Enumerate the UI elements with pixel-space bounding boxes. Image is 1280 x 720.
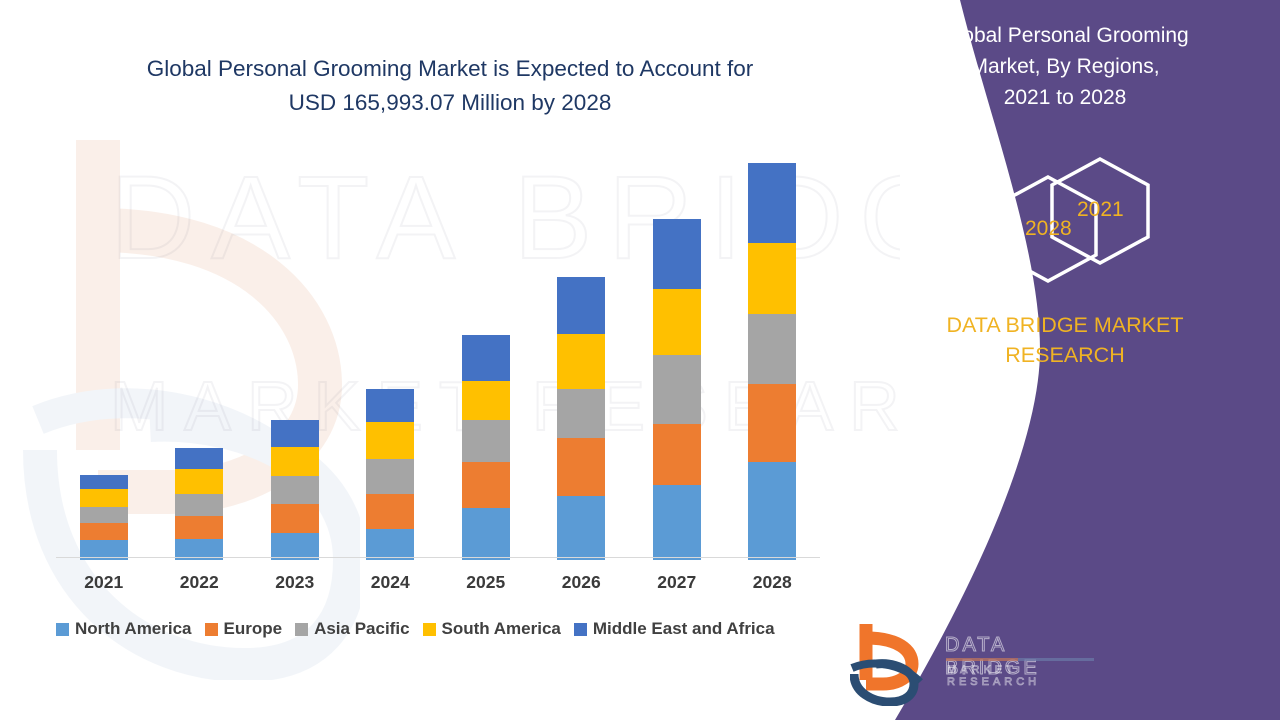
bar-group[interactable] [271,420,319,560]
bar-segment[interactable] [557,438,605,496]
bar-segment[interactable] [366,459,414,494]
bar-segment[interactable] [653,289,701,355]
bar-segment[interactable] [366,529,414,560]
footer-logo-divider [946,658,1096,662]
bar-group[interactable] [366,389,414,560]
bar-segment[interactable] [175,469,223,494]
bar-segment[interactable] [175,494,223,516]
chart-title-line-2: USD 165,993.07 Million by 2028 [60,86,840,120]
bar-segment[interactable] [748,163,796,243]
x-axis-tick-labels: 20212022202320242025202620272028 [56,572,820,602]
legend-swatch-icon [295,623,308,636]
chart-title-line-1: Global Personal Grooming Market is Expec… [60,52,840,86]
data-bridge-logo-icon [850,618,940,706]
bar-segment[interactable] [557,496,605,560]
bar-segment[interactable] [271,420,319,447]
x-tick-2028: 2028 [724,572,820,593]
bar-segment[interactable] [366,422,414,458]
legend-swatch-icon [56,623,69,636]
x-tick-2022: 2022 [151,572,247,593]
chart-panel: DATA BRIDGE MARKET RESEARCH Global Perso… [0,0,900,720]
branding-title-line-2: Market, By Regions, [880,51,1250,82]
bar-segment[interactable] [80,489,128,506]
hexagon-group: 2021 2028 [940,155,1240,285]
x-tick-2023: 2023 [247,572,343,593]
bar-segment[interactable] [557,277,605,334]
legend-label: North America [75,619,192,639]
branding-title-line-3: 2021 to 2028 [880,82,1250,113]
plot-area [56,160,820,560]
bar-segment[interactable] [653,424,701,485]
bar-group[interactable] [175,448,223,560]
brand-name-line-1: DATA BRIDGE MARKET [870,310,1260,340]
legend-label: Europe [224,619,283,639]
legend-swatch-icon [205,623,218,636]
bar-segment[interactable] [366,389,414,422]
x-axis-line [56,557,820,558]
legend-item[interactable]: South America [423,619,561,639]
bar-group[interactable] [80,475,128,560]
bar-segment[interactable] [462,335,510,381]
bar-segment[interactable] [175,516,223,538]
chart-legend: North AmericaEuropeAsia PacificSouth Ame… [56,616,846,642]
bar-segment[interactable] [748,314,796,383]
brand-name: DATA BRIDGE MARKET RESEARCH [870,310,1260,370]
legend-item[interactable]: Europe [205,619,283,639]
bar-segment[interactable] [366,494,414,529]
bar-segment[interactable] [748,384,796,462]
bar-segment[interactable] [748,243,796,315]
legend-label: South America [442,619,561,639]
legend-item[interactable]: Asia Pacific [295,619,409,639]
hexagon-year-2028: 2028 [1025,217,1072,241]
legend-item[interactable]: North America [56,619,192,639]
bar-segment[interactable] [80,523,128,540]
bar-group[interactable] [557,277,605,560]
legend-swatch-icon [423,623,436,636]
bar-group[interactable] [462,335,510,560]
bar-segment[interactable] [271,476,319,505]
bar-segment[interactable] [653,219,701,288]
x-tick-2021: 2021 [56,572,152,593]
bar-segment[interactable] [748,462,796,560]
bar-segment[interactable] [462,508,510,560]
bar-group[interactable] [653,219,701,560]
bar-segment[interactable] [80,507,128,523]
bar-segment[interactable] [462,420,510,462]
legend-swatch-icon [574,623,587,636]
bar-segment[interactable] [271,504,319,533]
bar-segment[interactable] [653,355,701,424]
bar-segment[interactable] [175,448,223,469]
brand-name-line-2: RESEARCH [870,340,1260,370]
bar-segment[interactable] [557,334,605,390]
x-tick-2024: 2024 [342,572,438,593]
chart-title: Global Personal Grooming Market is Expec… [60,52,840,120]
legend-item[interactable]: Middle East and Africa [574,619,775,639]
branding-title: Global Personal Grooming Market, By Regi… [880,20,1250,113]
bar-segment[interactable] [462,462,510,508]
legend-label: Middle East and Africa [593,619,775,639]
bar-segment[interactable] [271,447,319,476]
bar-segment[interactable] [80,475,128,489]
x-tick-2027: 2027 [629,572,725,593]
bar-segment[interactable] [653,485,701,560]
x-tick-2025: 2025 [438,572,534,593]
bar-segment[interactable] [271,533,319,560]
legend-label: Asia Pacific [314,619,409,639]
x-tick-2026: 2026 [533,572,629,593]
footer-logo: DATA BRIDGE MARKET RESEARCH [850,618,1100,710]
bar-segment[interactable] [462,381,510,421]
hexagon-year-2021: 2021 [1077,198,1124,222]
bar-group[interactable] [748,163,796,561]
bar-segment[interactable] [557,389,605,438]
branding-panel: Global Personal Grooming Market, By Regi… [840,0,1280,720]
footer-logo-text-2: MARKET RESEARCH [947,664,1100,688]
branding-title-line-1: Global Personal Grooming [880,20,1250,51]
